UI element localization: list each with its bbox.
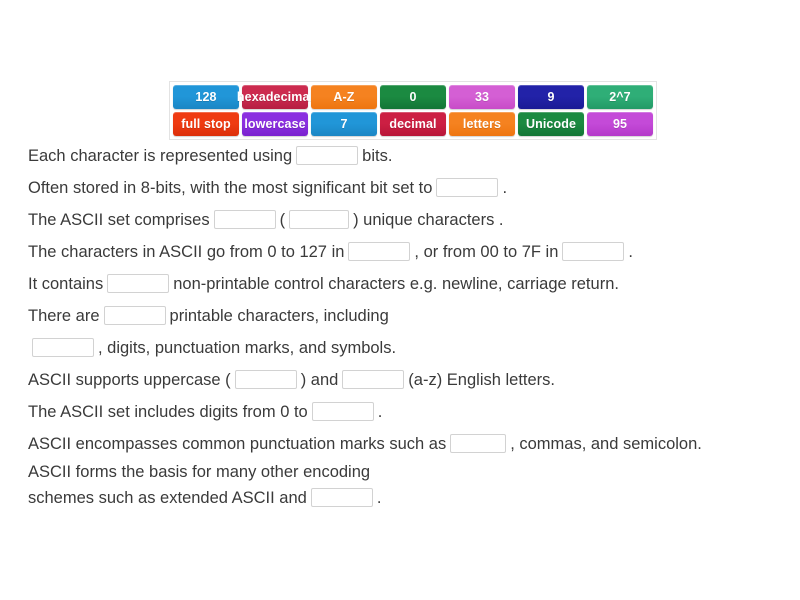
- statement-text: .: [377, 489, 382, 507]
- tile-row-1: 128 hexadecimal A-Z 0 33 9 2^7: [173, 85, 653, 109]
- tile-label: hexadecimal: [237, 85, 313, 109]
- statement-line-6: There areprintable characters, including: [28, 300, 778, 332]
- tile-lowercase[interactable]: lowercase: [242, 112, 308, 136]
- statement-text: The ASCII set includes digits from 0 to: [28, 403, 308, 421]
- blank-drop-12[interactable]: [312, 402, 374, 421]
- statement-text: bits.: [362, 147, 392, 165]
- statement-line-4: The characters in ASCII go from 0 to 127…: [28, 236, 778, 268]
- statement-line-11: ASCII forms the basis for many other enc…: [28, 460, 778, 484]
- statement-line-5: It containsnon-printable control charact…: [28, 268, 778, 300]
- tile-label: lowercase: [244, 112, 305, 136]
- blank-drop-4[interactable]: [289, 210, 349, 229]
- tile-label: 95: [613, 112, 627, 136]
- statement-text: There are: [28, 307, 100, 325]
- blank-drop-10[interactable]: [235, 370, 297, 389]
- statement-text: , commas, and semicolon.: [510, 435, 702, 453]
- statement-text: schemes such as extended ASCII and: [28, 489, 307, 507]
- tile-label: decimal: [389, 112, 436, 136]
- statement-text: It contains: [28, 275, 103, 293]
- tile-label: 9: [547, 85, 554, 109]
- blank-drop-3[interactable]: [214, 210, 276, 229]
- statement-text: Often stored in 8-bits, with the most si…: [28, 179, 432, 197]
- tile-label: 7: [340, 112, 347, 136]
- tile-label: 128: [195, 85, 216, 109]
- statement-text: ASCII supports uppercase (: [28, 371, 231, 389]
- blank-drop-14[interactable]: [311, 488, 373, 507]
- tile-0[interactable]: 0: [380, 85, 446, 109]
- tile-label: A-Z: [333, 85, 354, 109]
- statement-line-8: ASCII supports uppercase () and(a-z) Eng…: [28, 364, 778, 396]
- statement-text: , or from 00 to 7F in: [414, 243, 558, 261]
- statement-text: printable characters, including: [170, 307, 389, 325]
- tile-7[interactable]: 7: [311, 112, 377, 136]
- statement-line-2: Often stored in 8-bits, with the most si…: [28, 172, 778, 204]
- statement-line-10: ASCII encompasses common punctuation mar…: [28, 428, 778, 460]
- statement-line-9: The ASCII set includes digits from 0 to.: [28, 396, 778, 428]
- blank-drop-7[interactable]: [107, 274, 169, 293]
- tile-decimal[interactable]: decimal: [380, 112, 446, 136]
- blank-drop-8[interactable]: [104, 306, 166, 325]
- statement-list: Each character is represented usingbits.…: [28, 140, 778, 512]
- blank-drop-1[interactable]: [296, 146, 358, 165]
- statement-text: The ASCII set comprises: [28, 211, 210, 229]
- tile-hexadecimal[interactable]: hexadecimal: [242, 85, 308, 109]
- statement-text: ) unique characters .: [353, 211, 503, 229]
- statement-text: Each character is represented using: [28, 147, 292, 165]
- statement-line-12: schemes such as extended ASCII and.: [28, 484, 778, 512]
- statement-text: ASCII forms the basis for many other enc…: [28, 463, 370, 481]
- tile-label: letters: [463, 112, 501, 136]
- statement-text: (a-z) English letters.: [408, 371, 555, 389]
- tile-128[interactable]: 128: [173, 85, 239, 109]
- tile-2-pow-7[interactable]: 2^7: [587, 85, 653, 109]
- tile-label: 0: [409, 85, 416, 109]
- blank-drop-6[interactable]: [562, 242, 624, 261]
- statement-text: (: [280, 211, 286, 229]
- statement-line-7: , digits, punctuation marks, and symbols…: [28, 332, 778, 364]
- blank-drop-11[interactable]: [342, 370, 404, 389]
- statement-text: ) and: [301, 371, 339, 389]
- tile-unicode[interactable]: Unicode: [518, 112, 584, 136]
- statement-text: .: [378, 403, 383, 421]
- blank-drop-13[interactable]: [450, 434, 506, 453]
- tile-full-stop[interactable]: full stop: [173, 112, 239, 136]
- tile-label: Unicode: [526, 112, 576, 136]
- tile-a-z[interactable]: A-Z: [311, 85, 377, 109]
- blank-drop-9[interactable]: [32, 338, 94, 357]
- statement-line-3: The ASCII set comprises() unique charact…: [28, 204, 778, 236]
- statement-text: The characters in ASCII go from 0 to 127…: [28, 243, 344, 261]
- tile-label: 33: [475, 85, 489, 109]
- answer-tile-bank: 128 hexadecimal A-Z 0 33 9 2^7 full stop…: [169, 81, 657, 140]
- tile-letters[interactable]: letters: [449, 112, 515, 136]
- statement-text: .: [628, 243, 633, 261]
- statement-line-1: Each character is represented usingbits.: [28, 140, 778, 172]
- statement-text: , digits, punctuation marks, and symbols…: [98, 339, 396, 357]
- tile-9[interactable]: 9: [518, 85, 584, 109]
- blank-drop-5[interactable]: [348, 242, 410, 261]
- tile-label: 2^7: [609, 85, 631, 109]
- blank-drop-2[interactable]: [436, 178, 498, 197]
- statement-text: .: [502, 179, 507, 197]
- tile-33[interactable]: 33: [449, 85, 515, 109]
- tile-row-2: full stop lowercase 7 decimal letters Un…: [173, 112, 653, 136]
- tile-label: full stop: [181, 112, 231, 136]
- tile-95[interactable]: 95: [587, 112, 653, 136]
- statement-text: non-printable control characters e.g. ne…: [173, 275, 619, 293]
- statement-text: ASCII encompasses common punctuation mar…: [28, 435, 446, 453]
